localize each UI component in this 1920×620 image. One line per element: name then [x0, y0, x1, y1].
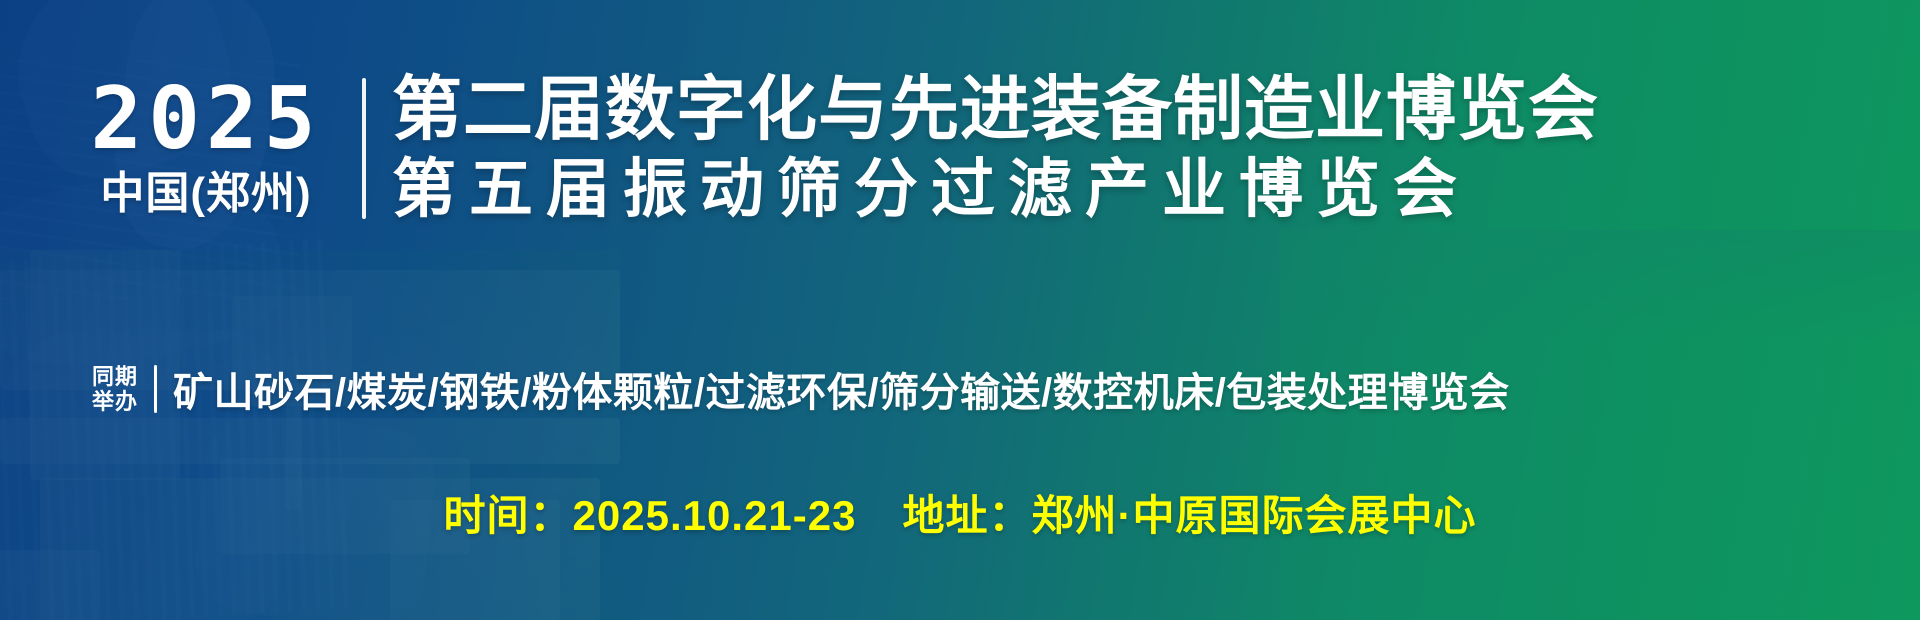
concurrent-label: 同期 举办	[92, 364, 138, 415]
concurrent-events-row: 同期 举办 矿山砂石/煤炭/钢铁/粉体颗粒/过滤环保/筛分输送/数控机床/包装处…	[92, 360, 1510, 418]
headline-divider	[362, 78, 366, 219]
city-text: 中国(郑州)	[100, 169, 311, 220]
exhibition-banner: 2025 中国(郑州) 第二届数字化与先进装备制造业博览会 第五届振动筛分过滤产…	[0, 0, 1920, 620]
banner-content: 2025 中国(郑州) 第二届数字化与先进装备制造业博览会 第五届振动筛分过滤产…	[0, 0, 1920, 620]
concurrent-label-line2: 举办	[92, 389, 138, 414]
concurrent-divider	[154, 365, 157, 413]
venue-info: 地址：郑州·中原国际会展中心	[902, 482, 1476, 543]
titles-block: 第二届数字化与先进装备制造业博览会 第五届振动筛分过滤产业博览会	[392, 72, 1599, 225]
primary-title: 第二届数字化与先进装备制造业博览会	[392, 72, 1599, 148]
secondary-title: 第五届振动筛分过滤产业博览会	[392, 154, 1599, 226]
date-info: 时间：2025.10.21-23	[444, 482, 857, 543]
concurrent-label-line1: 同期	[92, 364, 138, 389]
year-city-block: 2025 中国(郑州)	[72, 72, 362, 225]
year-text: 2025	[90, 78, 321, 161]
categories-text: 矿山砂石/煤炭/钢铁/粉体颗粒/过滤环保/筛分输送/数控机床/包装处理博览会	[173, 360, 1510, 418]
footer-info-row: 时间：2025.10.21-23 地址：郑州·中原国际会展中心	[0, 482, 1920, 543]
headline-block: 2025 中国(郑州) 第二届数字化与先进装备制造业博览会 第五届振动筛分过滤产…	[72, 72, 1599, 225]
